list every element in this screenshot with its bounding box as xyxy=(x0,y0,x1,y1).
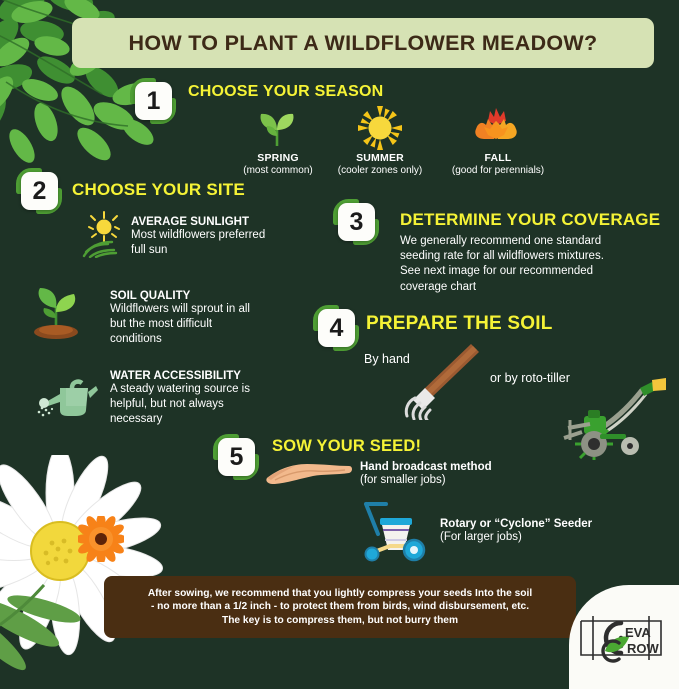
sow-method-hand: Hand broadcast method (for smaller jobs) xyxy=(360,461,560,488)
logo-top-text: EVA xyxy=(625,625,651,640)
closing-note-line-2: - no more than a 1/2 inch - to protect t… xyxy=(151,600,529,614)
step-3-body: We generally recommend one standard seed… xyxy=(400,234,670,295)
sun-icon xyxy=(357,106,403,150)
rotary-seeder-icon xyxy=(352,500,448,562)
step-1-badge: 1 xyxy=(130,78,176,124)
page-title-text: HOW TO PLANT A WILDFLOWER MEADOW? xyxy=(129,31,598,56)
step-5-number: 5 xyxy=(230,445,244,470)
sow-method-hand-title: Hand broadcast method xyxy=(360,461,560,473)
roto-tiller-icon xyxy=(556,368,668,460)
watering-can-icon xyxy=(36,372,98,420)
site-item-soil-body: Wildflowers will sprout in all but the m… xyxy=(110,302,320,347)
sow-method-rotary-note: (For larger jobs) xyxy=(440,530,640,545)
page-title: HOW TO PLANT A WILDFLOWER MEADOW? xyxy=(72,18,654,68)
sprout-in-soil-icon xyxy=(28,284,84,340)
site-item-soil: SOIL QUALITY Wildflowers will sprout in … xyxy=(110,290,320,347)
step-3-badge: 3 xyxy=(333,199,379,245)
season-summer-note: (cooler zones only) xyxy=(338,165,422,176)
season-summer-name: SUMMER xyxy=(330,152,430,165)
badge-card: 4 xyxy=(318,309,355,347)
badge-card: 1 xyxy=(135,82,172,120)
step-1-heading: CHOOSE YOUR SEASON xyxy=(188,83,383,101)
daisy-flower-icon xyxy=(0,455,178,685)
maple-leaves-icon xyxy=(470,105,522,150)
site-item-water-title: WATER ACCESSIBILITY xyxy=(110,370,325,382)
closing-note-line-3: The key is to compress them, but not bur… xyxy=(222,614,458,628)
infographic-canvas: HOW TO PLANT A WILDFLOWER MEADOW? 1 CHOO… xyxy=(0,0,679,679)
step-4-heading: PREPARE THE SOIL xyxy=(366,313,553,335)
step-2-number: 2 xyxy=(33,179,47,204)
sow-method-hand-note: (for smaller jobs) xyxy=(360,473,560,488)
step-5-heading: SOW YOUR SEED! xyxy=(272,437,421,456)
marigold-flower-icon xyxy=(78,516,124,562)
geva-grow-logo[interactable]: EVA ROW xyxy=(575,613,671,663)
open-hand-icon xyxy=(265,460,353,492)
step-4-number: 4 xyxy=(330,316,344,341)
badge-card: 5 xyxy=(218,438,255,476)
logo-bottom-text: ROW xyxy=(627,641,660,656)
season-fall-note: (good for perennials) xyxy=(452,165,544,176)
site-item-sunlight-title: AVERAGE SUNLIGHT xyxy=(131,216,331,228)
sow-method-rotary-title: Rotary or “Cyclone” Seeder xyxy=(440,518,640,530)
closing-note: After sowing, we recommend that you ligh… xyxy=(104,576,576,638)
sun-over-field-icon xyxy=(80,210,128,258)
season-spring-name: SPRING xyxy=(235,152,321,165)
season-spring-note: (most common) xyxy=(243,165,312,176)
step-5-badge: 5 xyxy=(213,434,259,480)
sow-method-rotary: Rotary or “Cyclone” Seeder (For larger j… xyxy=(440,518,640,545)
site-item-water: WATER ACCESSIBILITY A steady watering so… xyxy=(110,370,325,427)
badge-card: 2 xyxy=(21,172,58,210)
season-fall-name: FALL xyxy=(442,152,554,165)
badge-card: 3 xyxy=(338,203,375,241)
step-4-badge: 4 xyxy=(313,305,359,351)
step-2-heading: CHOOSE YOUR SITE xyxy=(72,180,245,200)
site-item-sunlight: AVERAGE SUNLIGHT Most wildflowers prefer… xyxy=(131,216,331,258)
step-3-number: 3 xyxy=(350,210,364,235)
rake-icon xyxy=(395,340,485,420)
step-1-number: 1 xyxy=(147,89,161,114)
site-item-water-body: A steady watering source is helpful, but… xyxy=(110,382,325,427)
site-item-sunlight-body: Most wildflowers preferred full sun xyxy=(131,228,331,258)
seedling-icon xyxy=(255,108,299,148)
step-3-heading: DETERMINE YOUR COVERAGE xyxy=(400,210,660,230)
closing-note-line-1: After sowing, we recommend that you ligh… xyxy=(148,587,532,601)
site-item-soil-title: SOIL QUALITY xyxy=(110,290,320,302)
season-summer-caption: SUMMER (cooler zones only) xyxy=(330,152,430,178)
season-fall-caption: FALL (good for perennials) xyxy=(442,152,554,178)
season-spring-caption: SPRING (most common) xyxy=(235,152,321,178)
step-2-badge: 2 xyxy=(16,168,62,214)
